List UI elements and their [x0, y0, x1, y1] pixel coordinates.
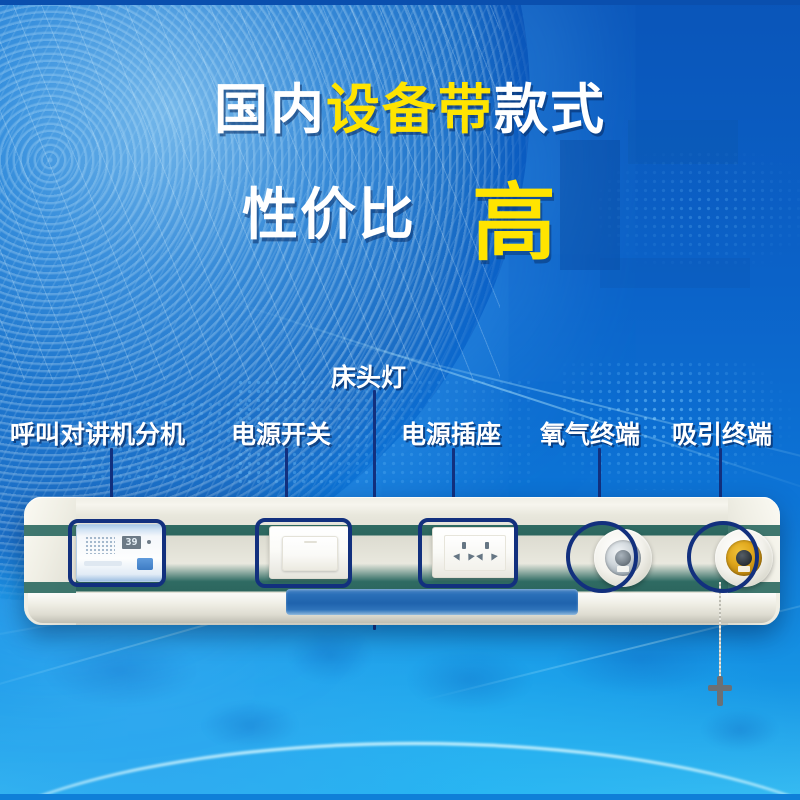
power-socket[interactable] [432, 527, 516, 578]
oxygen-terminal[interactable] [594, 529, 652, 587]
socket-pin-left [476, 551, 486, 561]
hook-vertical [717, 676, 723, 706]
socket-pin-top [462, 542, 466, 549]
socket-face [444, 535, 506, 571]
socket-pinset-left [453, 542, 475, 564]
call-button[interactable] [137, 558, 153, 570]
intercom-slot [84, 561, 122, 566]
socket-pin-top [485, 542, 489, 549]
speaker-grille-icon [85, 536, 115, 554]
nurse-call-intercom[interactable]: 39 [76, 524, 164, 582]
callout-label-power-socket: 电源插座 [401, 415, 501, 451]
socket-pin-right [465, 551, 475, 561]
oxygen-terminal-tag [617, 566, 629, 572]
switch-rocker[interactable] [282, 536, 338, 571]
power-switch[interactable] [269, 526, 349, 579]
headline-part-3: 款式 [494, 78, 606, 141]
headline-line-2: 性价比 高 [0, 150, 800, 271]
bedside-lamp-diffuser [286, 589, 578, 615]
top-edge-bar [0, 0, 800, 5]
oxygen-terminal-port [615, 550, 631, 566]
pull-cord-hook-icon[interactable] [708, 676, 732, 706]
callout-label-oxygen: 氧气终端 [540, 415, 640, 451]
hook-horizontal [708, 685, 732, 691]
socket-pin-right [488, 551, 498, 561]
callout-label-bedside-lamp: 床头灯 [331, 358, 406, 394]
headline-part-2: 设备带 [326, 78, 494, 141]
callout-label-suction: 吸引终端 [672, 415, 772, 451]
suction-terminal-inner [726, 540, 762, 576]
callout-label-power-switch: 电源开关 [231, 415, 331, 451]
socket-pin-left [453, 551, 463, 561]
headline-part-1: 国内 [214, 78, 326, 141]
suction-terminal-port [736, 550, 752, 566]
headline-block: 国内设备带款式 [0, 82, 800, 137]
intercom-display: 39 [122, 536, 141, 549]
headline-line-1: 国内设备带款式 [0, 82, 800, 137]
medical-headwall-panel: 39 [24, 497, 780, 625]
oxygen-terminal-inner [605, 540, 641, 576]
pull-cord[interactable] [719, 582, 721, 682]
headline-subtitle: 性价比 [242, 170, 416, 251]
promo-image: 国内设备带款式 性价比 高 呼叫对讲机分机 电源开关 床头灯 电源插座 氧气终端… [0, 0, 800, 800]
suction-terminal[interactable] [715, 529, 773, 587]
socket-pinset-right [476, 542, 498, 564]
headline-accent-char: 高 [472, 156, 558, 277]
callout-label-intercom: 呼叫对讲机分机 [10, 415, 185, 451]
status-led-icon [147, 540, 151, 544]
bottom-edge-bar [0, 794, 800, 800]
suction-terminal-tag [738, 566, 750, 572]
